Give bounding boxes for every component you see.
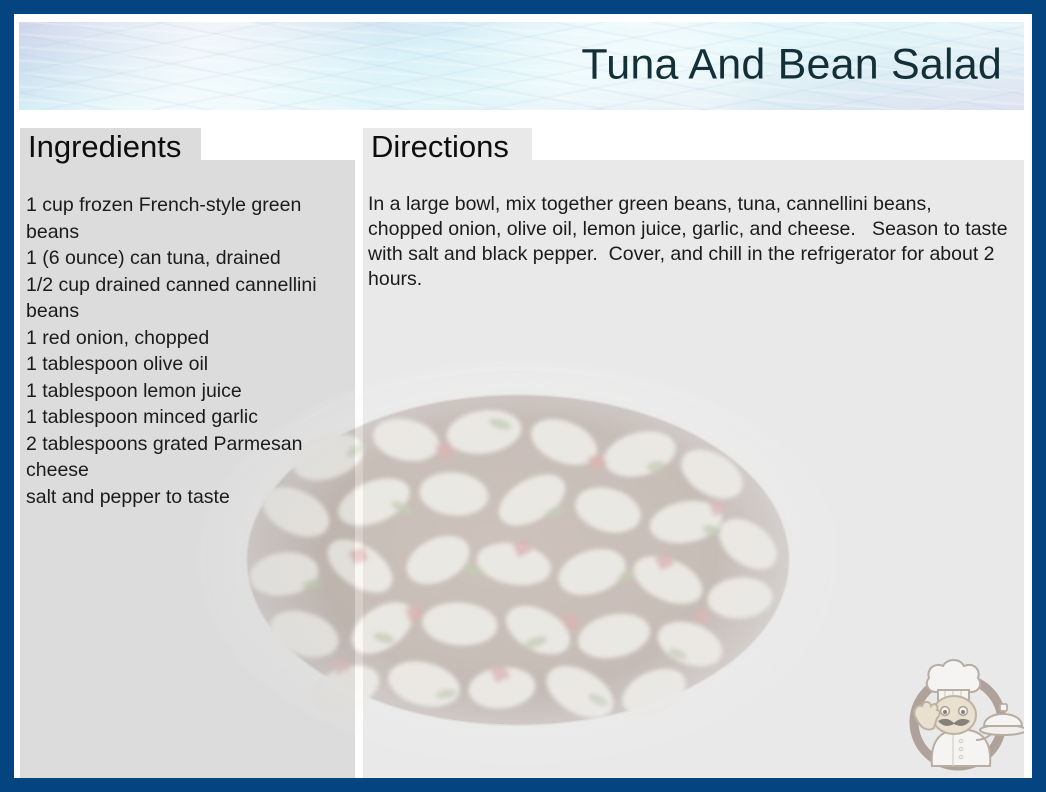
ingredient-item: 1 red onion, chopped	[26, 325, 342, 352]
ingredients-heading: Ingredients	[28, 128, 181, 166]
ingredients-header-tab: Ingredients	[20, 128, 201, 166]
ingredient-item: 1 (6 ounce) can tuna, drained	[26, 245, 342, 272]
directions-heading: Directions	[371, 128, 509, 166]
ingredient-item: 1/2 cup drained canned cannellini beans	[26, 272, 342, 325]
directions-body: In a large bowl, mix together green bean…	[368, 192, 1008, 292]
ingredient-item: 1 tablespoon olive oil	[26, 351, 342, 378]
directions-header-tab: Directions	[363, 128, 532, 166]
page-title: Tuna And Bean Salad	[581, 44, 1002, 87]
ingredient-item: 1 tablespoon lemon juice	[26, 378, 342, 405]
recipe-card: Tuna And Bean Salad Ingredients Directio…	[0, 0, 1046, 792]
title-banner: Tuna And Bean Salad	[19, 22, 1024, 110]
ingredient-item: salt and pepper to taste	[26, 484, 342, 511]
ingredient-item: 1 cup frozen French-style green beans	[26, 192, 342, 245]
ingredient-item: 2 tablespoons grated Parmesan cheese	[26, 431, 342, 484]
ingredient-item: 1 tablespoon minced garlic	[26, 404, 342, 431]
ingredients-list: 1 cup frozen French-style green beans 1 …	[26, 192, 342, 510]
